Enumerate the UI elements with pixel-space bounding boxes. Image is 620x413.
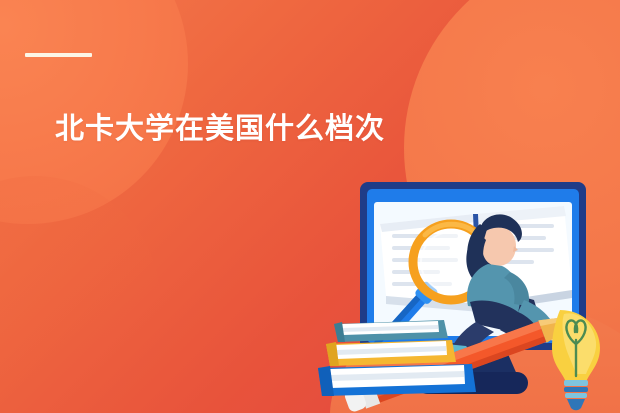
page-title: 北卡大学在美国什么档次 — [55, 112, 385, 147]
poster-canvas: 北卡大学在美国什么档次 — [0, 0, 620, 413]
decorative-rule — [25, 53, 92, 57]
study-research-illustration — [312, 172, 612, 413]
lightbulb-icon — [552, 310, 600, 410]
